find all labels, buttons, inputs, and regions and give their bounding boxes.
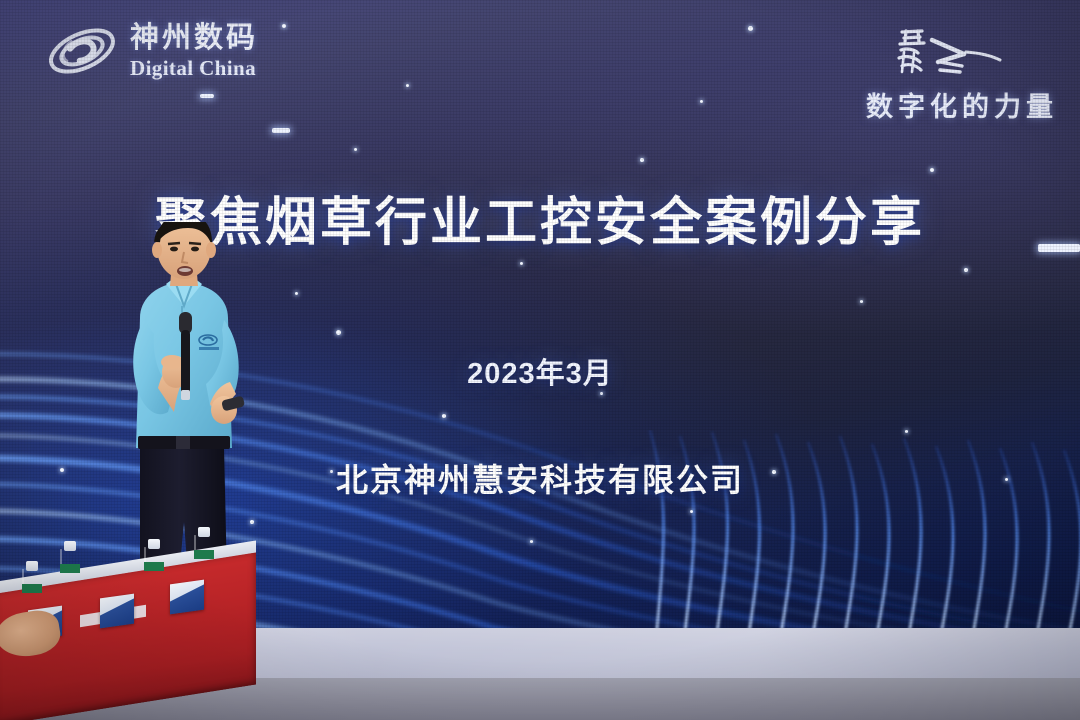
name-card: [100, 594, 134, 629]
name-card: [170, 580, 204, 615]
brand-name-en: Digital China: [130, 58, 258, 79]
digital-china-logo: 神州数码 Digital China: [44, 20, 258, 82]
water-bottle: [194, 536, 214, 554]
brand-name-cn: 神州数码: [130, 24, 258, 53]
event-tagline: 数字化的力量: [866, 85, 1058, 124]
water-bottle: [22, 570, 42, 588]
water-bottle: [144, 548, 164, 566]
water-bottle: [60, 550, 80, 568]
stage-photo: 神州数码 Digital China: [0, 0, 1080, 720]
digital-china-swirl-icon: [44, 20, 120, 82]
event-logo: 数字化的力量: [866, 22, 1058, 124]
